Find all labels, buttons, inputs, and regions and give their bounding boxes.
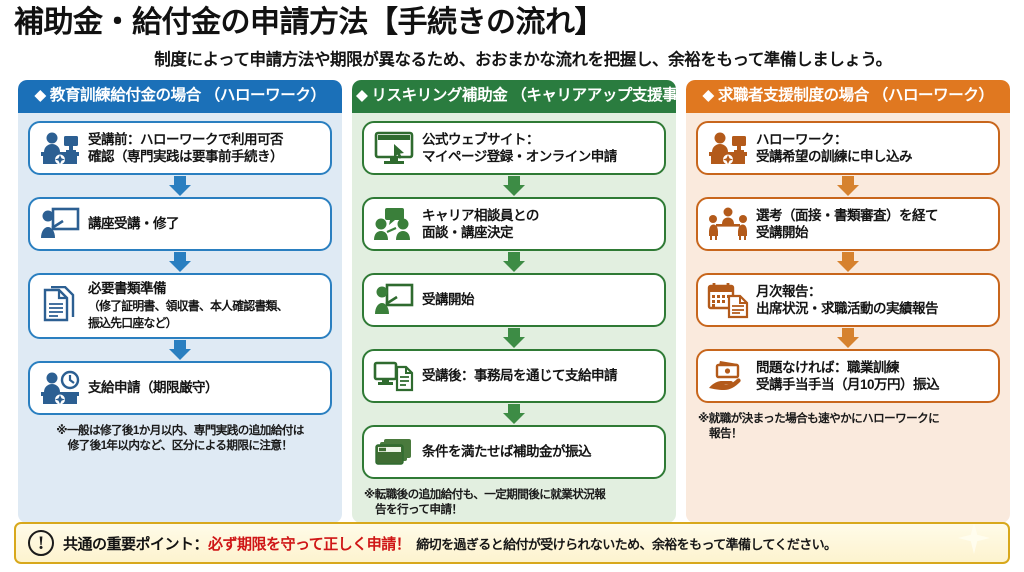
- step-item[interactable]: 講座受講・修了: [28, 197, 332, 251]
- infographic-page: 補助金・給付金の申請方法【手続きの流れ】 制度によって申請方法や期限が異なるため…: [0, 0, 1024, 572]
- hand-cash-icon: [705, 356, 751, 396]
- counter-desk-person-icon: [37, 128, 83, 168]
- step-label: 講座受講・修了: [88, 215, 179, 232]
- step-item[interactable]: 受講開始: [362, 273, 666, 327]
- step-item[interactable]: 月次報告： 出席状況・求職活動の実績報告: [696, 273, 1000, 327]
- step-item[interactable]: 問題なければ：職業訓練 受講手当手当（月10万円）振込: [696, 349, 1000, 403]
- step-label: 月次報告： 出席状況・求職活動の実績報告: [756, 283, 938, 318]
- step-item[interactable]: 必要書類準備（修了証明書、領収書、本人確認書類、 振込先口座など）: [28, 273, 332, 339]
- flow-arrow: [696, 251, 1000, 273]
- flow-arrow: [696, 175, 1000, 197]
- step-label: キャリア相談員との 面談・講座決定: [422, 207, 539, 242]
- step-item[interactable]: ハローワーク： 受講希望の訓練に申し込み: [696, 121, 1000, 175]
- step-label: 受講開始: [422, 291, 474, 308]
- flow-arrow: [28, 339, 332, 361]
- teacher-whiteboard-icon: [371, 280, 417, 320]
- teacher-whiteboard-icon: [37, 204, 83, 244]
- step-item[interactable]: 支給申請（期限厳守）: [28, 361, 332, 415]
- important-point-banner: ! 共通の重要ポイント： 必ず期限を守って正しく申請！ 締切を過ぎると給付が受け…: [14, 522, 1010, 564]
- column-header-kyushokusha-shien: ◆ 求職者支援制度の場合 （ハローワーク）: [686, 80, 1010, 113]
- step-label-main: 必要書類準備: [88, 281, 166, 296]
- flow-arrow: [362, 403, 666, 425]
- banner-highlight-text: 必ず期限を守って正しく申請！: [208, 533, 410, 554]
- interview-table-icon: [705, 204, 751, 244]
- exclamation-circle-icon: !: [28, 530, 54, 556]
- steps-kyushokusha-shien: ハローワーク： 受講希望の訓練に申し込み 選考（面接・書類審査）を経て 受講開始…: [686, 113, 1010, 403]
- step-label: 公式ウェブサイト： マイページ登録・オンライン申請: [422, 131, 617, 166]
- monitor-cursor-icon: [371, 128, 417, 168]
- step-item[interactable]: 受講後：事務局を通じて支給申請: [362, 349, 666, 403]
- flow-arrow: [362, 251, 666, 273]
- step-label: 選考（面接・書類審査）を経て 受講開始: [756, 207, 938, 242]
- flow-arrow: [28, 175, 332, 197]
- step-item[interactable]: キャリア相談員との 面談・講座決定: [362, 197, 666, 251]
- column-header-kyoiku-kunren: ◆ 教育訓練給付金の場合 （ハローワーク）: [18, 80, 342, 113]
- step-label: 必要書類準備（修了証明書、領収書、本人確認書類、 振込先口座など）: [88, 280, 288, 332]
- flow-arrow: [28, 251, 332, 273]
- step-item[interactable]: 受講前：ハローワークで利用可否 確認（専門実践は要事前手続き）: [28, 121, 332, 175]
- column-note: ※一般は修了後1か月以内、専門実践の追加給付は 修了後1年以内など、区分による期…: [18, 415, 342, 455]
- flow-arrow: [696, 327, 1000, 349]
- person-clock-desk-icon: [37, 368, 83, 408]
- banner-detail-text: 締切を過ぎると給付が受けられないため、余裕をもって準備してください。: [416, 534, 836, 553]
- step-label: 問題なければ：職業訓練 受講手当手当（月10万円）振込: [756, 359, 939, 394]
- flow-arrow: [362, 175, 666, 197]
- step-item[interactable]: 条件を満たせば補助金が振込: [362, 425, 666, 479]
- step-label: 条件を満たせば補助金が振込: [422, 443, 591, 460]
- bank-cards-icon: [371, 432, 417, 472]
- step-label: 支給申請（期限厳守）: [88, 379, 218, 396]
- counter-desk-person-icon: [705, 128, 751, 168]
- column-header-reskilling: ◆ リスキリング補助金 （キャリアアップ支援事業）の場合 （オンライン・事務局）: [352, 80, 676, 113]
- column-note: ※転職後の追加給付も、一定期間後に就業状況報 告を行って申請！: [352, 479, 676, 519]
- column-reskilling: ◆ リスキリング補助金 （キャリアアップ支援事業）の場合 （オンライン・事務局）…: [352, 80, 676, 523]
- step-label: 受講前：ハローワークで利用可否 確認（専門実践は要事前手続き）: [88, 131, 283, 166]
- two-people-chat-icon: [371, 204, 417, 244]
- step-label: ハローワーク： 受講希望の訓練に申し込み: [756, 131, 912, 166]
- steps-reskilling: 公式ウェブサイト： マイページ登録・オンライン申請 キャリア相談員との 面談・講…: [352, 113, 676, 479]
- step-label-sub: （修了証明書、領収書、本人確認書類、 振込先口座など）: [88, 299, 288, 330]
- step-item[interactable]: 公式ウェブサイト： マイページ登録・オンライン申請: [362, 121, 666, 175]
- page-title: 補助金・給付金の申請方法【手続きの流れ】: [0, 0, 1024, 39]
- column-kyoiku-kunren: ◆ 教育訓練給付金の場合 （ハローワーク） 受講前：ハローワークで利用可否 確認…: [18, 80, 342, 523]
- column-kyushokusha-shien: ◆ 求職者支援制度の場合 （ハローワーク） ハローワーク： 受講希望の訓練に申し…: [686, 80, 1010, 523]
- step-item[interactable]: 選考（面接・書類審査）を経て 受講開始: [696, 197, 1000, 251]
- banner-lead-text: 共通の重要ポイント：: [63, 533, 208, 554]
- columns-container: ◆ 教育訓練給付金の場合 （ハローワーク） 受講前：ハローワークで利用可否 確認…: [0, 70, 1024, 523]
- monitor-document-icon: [371, 356, 417, 396]
- step-label: 受講後：事務局を通じて支給申請: [422, 367, 617, 384]
- calendar-document-icon: [705, 280, 751, 320]
- column-note: ※就職が決まった場合も速やかにハローワークに 報告！: [686, 403, 1010, 443]
- documents-icon: [37, 286, 83, 326]
- flow-arrow: [362, 327, 666, 349]
- page-subtitle: 制度によって申請方法や期限が異なるため、おおまかな流れを把握し、余裕をもって準備…: [0, 39, 1024, 70]
- steps-kyoiku-kunren: 受講前：ハローワークで利用可否 確認（専門実践は要事前手続き） 講座受講・修了 …: [18, 113, 342, 415]
- sparkle-icon: [954, 522, 994, 558]
